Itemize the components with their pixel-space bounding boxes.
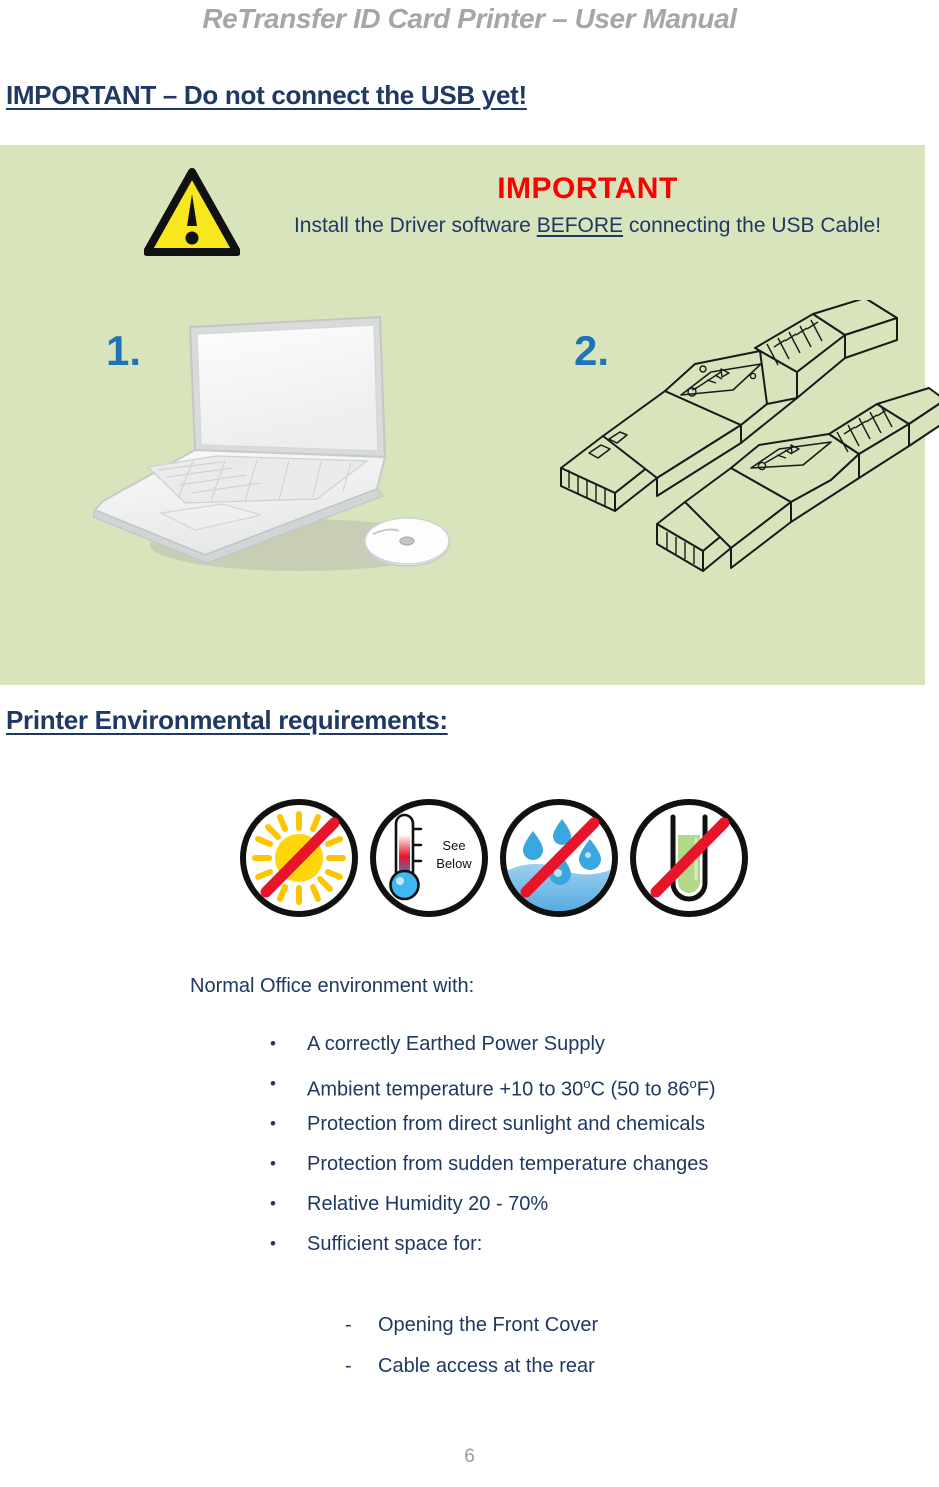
bullet-glyph: • xyxy=(270,1224,276,1264)
list-item-label: A correctly Earthed Power Supply xyxy=(307,1024,605,1064)
no-water-icon xyxy=(496,795,622,921)
list-item-label: Protection from sudden temperature chang… xyxy=(307,1144,708,1184)
callout-message-emphasis: BEFORE xyxy=(537,214,623,237)
environment-icon-row: See Below xyxy=(236,795,752,921)
bullet-glyph: • xyxy=(270,1064,276,1104)
no-chemicals-icon xyxy=(626,795,752,921)
list-item-label: Protection from direct sunlight and chem… xyxy=(307,1104,705,1144)
list-item-label: Opening the Front Cover xyxy=(378,1305,598,1346)
sub-bullet-glyph: - xyxy=(345,1305,352,1346)
thermometer-label-line2: Below xyxy=(422,855,486,873)
list-item: - Cable access at the rear xyxy=(345,1346,905,1387)
section-heading-environment: Printer Environmental requirements: xyxy=(6,705,448,736)
temp-range-text: Ambient temperature +10 to 30 xyxy=(307,1079,583,1101)
list-item: • Ambient temperature +10 to 30oC (50 to… xyxy=(270,1064,910,1104)
callout-message-after: connecting the USB Cable! xyxy=(623,214,881,237)
bullet-glyph: • xyxy=(270,1144,276,1184)
temp-range-mid: C (50 to 86 xyxy=(591,1079,690,1101)
callout-message-before: Install the Driver software xyxy=(294,214,537,237)
list-item-label: Relative Humidity 20 - 70% xyxy=(307,1184,548,1224)
list-item-label: Sufficient space for: xyxy=(307,1224,482,1264)
list-item: • Protection from direct sunlight and ch… xyxy=(270,1104,910,1144)
section-heading-usb-warning: IMPORTANT – Do not connect the USB yet! xyxy=(6,80,527,111)
bullet-glyph: • xyxy=(270,1184,276,1224)
temperature-thermometer-icon: See Below xyxy=(366,795,492,921)
callout-message: Install the Driver software BEFORE conne… xyxy=(250,214,925,238)
bullet-glyph: • xyxy=(270,1024,276,1064)
list-item-label: Cable access at the rear xyxy=(378,1346,595,1387)
degree-symbol-f: o xyxy=(689,1076,696,1091)
list-item-label: Ambient temperature +10 to 30oC (50 to 8… xyxy=(307,1064,716,1110)
usb-cable-connectors-illustration xyxy=(545,300,939,600)
document-running-header: ReTransfer ID Card Printer – User Manual xyxy=(0,0,939,38)
list-item: • Relative Humidity 20 - 70% xyxy=(270,1184,910,1224)
thermometer-label-line1: See xyxy=(422,837,486,855)
no-direct-sunlight-icon xyxy=(236,795,362,921)
list-item: • A correctly Earthed Power Supply xyxy=(270,1024,910,1064)
laptop-with-cd-illustration xyxy=(85,305,485,605)
degree-symbol-c: o xyxy=(583,1076,590,1091)
bullet-glyph: • xyxy=(270,1104,276,1144)
list-item: - Opening the Front Cover xyxy=(345,1305,905,1346)
callout-title: IMPORTANT xyxy=(250,172,925,206)
sub-bullet-glyph: - xyxy=(345,1346,352,1387)
list-item: • Sufficient space for: xyxy=(270,1224,910,1264)
environment-intro-text: Normal Office environment with: xyxy=(190,975,474,998)
environment-sub-bullet-list: - Opening the Front Cover - Cable access… xyxy=(345,1305,905,1387)
environment-bullet-list: • A correctly Earthed Power Supply • Amb… xyxy=(270,1024,910,1264)
temp-range-tail: F) xyxy=(697,1079,716,1101)
warning-triangle-icon xyxy=(144,168,240,256)
page-number: 6 xyxy=(0,1446,939,1468)
list-item: • Protection from sudden temperature cha… xyxy=(270,1144,910,1184)
